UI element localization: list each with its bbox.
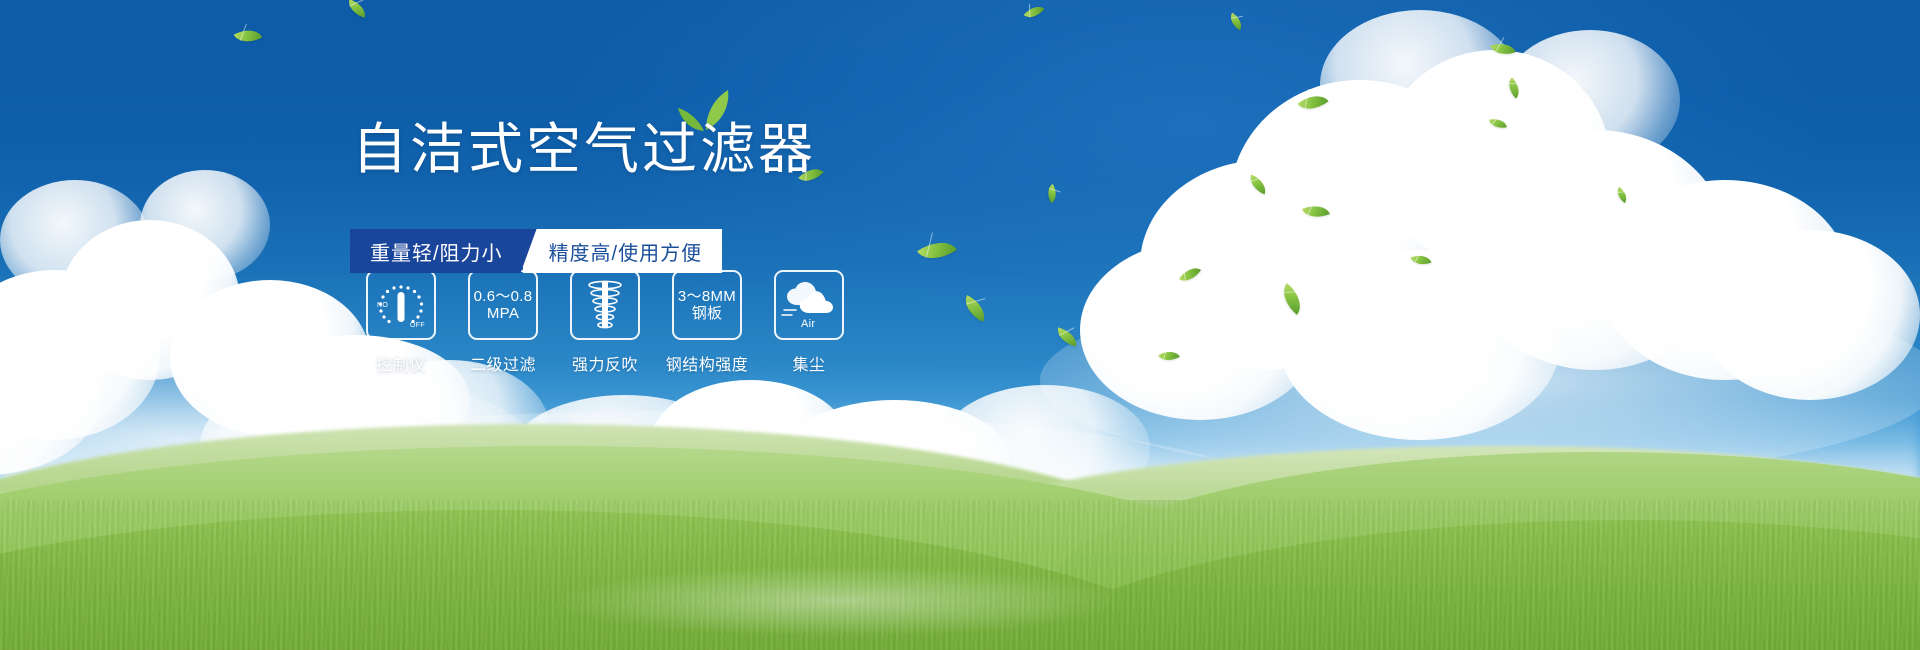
control-dial-icon: NO OFF xyxy=(372,276,430,334)
subtitle-tab-primary[interactable]: 重量轻/阻力小 xyxy=(350,229,537,273)
feature-item-steel[interactable]: 3～8MM 钢板 钢结构强度 xyxy=(656,270,758,375)
steel-plate-text-icon: 3～8MM 钢板 xyxy=(678,288,736,322)
feature-icon-box: 3～8MM 钢板 xyxy=(672,270,742,340)
coil-blowback-icon xyxy=(580,278,630,332)
feature-item-dust[interactable]: Air 集尘 xyxy=(758,270,860,375)
feature-list: NO OFF 控制仪 0.6～0.8 MPA 二级过滤 xyxy=(350,270,860,375)
dial-on-label: NO xyxy=(377,302,388,309)
feature-label: 钢结构强度 xyxy=(666,351,749,375)
banner-content: 自洁式空气过滤器 重量轻/阻力小 精度高/使用方便 xyxy=(0,0,1920,650)
subtitle-tab-secondary[interactable]: 精度高/使用方便 xyxy=(523,229,723,273)
feature-item-control[interactable]: NO OFF 控制仪 xyxy=(350,270,452,375)
page-title: 自洁式空气过滤器 xyxy=(352,118,816,180)
pressure-text-icon: 0.6～0.8 MPA xyxy=(474,288,533,322)
feature-label: 集尘 xyxy=(792,351,825,375)
feature-item-filter[interactable]: 0.6～0.8 MPA 二级过滤 xyxy=(452,270,554,375)
feature-icon-box: Air xyxy=(774,270,844,340)
dial-off-label: OFF xyxy=(410,322,425,329)
feature-icon-box xyxy=(570,270,640,340)
feature-icon-box: NO OFF xyxy=(366,270,436,340)
feature-icon-box: 0.6～0.8 MPA xyxy=(468,270,538,340)
feature-item-blowback[interactable]: 强力反吹 xyxy=(554,270,656,375)
air-cloud-icon: Air xyxy=(781,279,837,331)
air-label: Air xyxy=(801,318,815,330)
feature-label: 强力反吹 xyxy=(572,351,638,375)
product-hero-banner: 自洁式空气过滤器 重量轻/阻力小 精度高/使用方便 xyxy=(0,0,1920,650)
feature-label: 控制仪 xyxy=(376,351,426,375)
subtitle-tabs: 重量轻/阻力小 精度高/使用方便 xyxy=(350,229,722,273)
feature-label: 二级过滤 xyxy=(470,351,536,375)
